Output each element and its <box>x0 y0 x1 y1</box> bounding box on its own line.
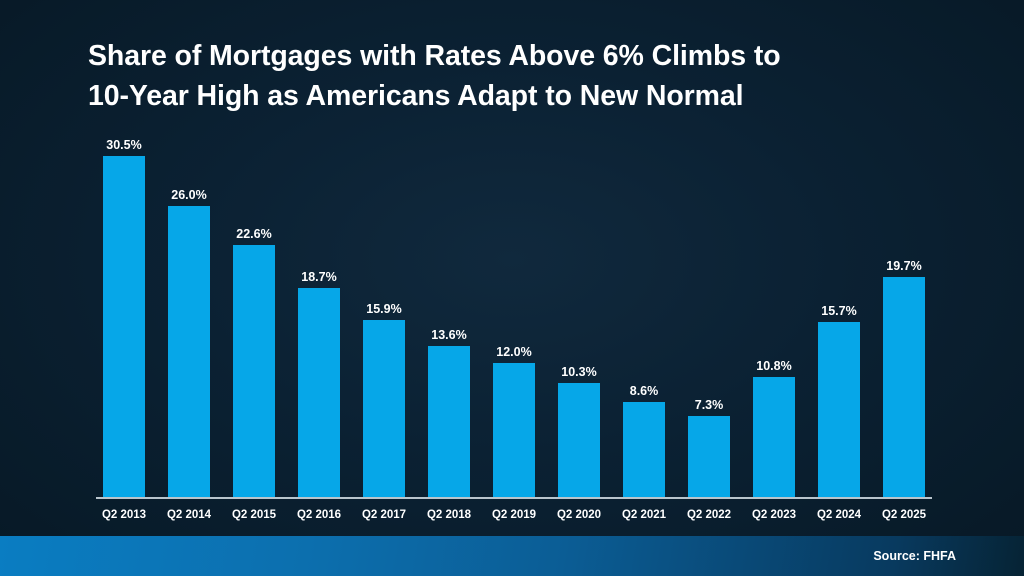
bar-group: 10.3% <box>558 128 600 498</box>
bar-group: 15.9% <box>363 128 405 498</box>
x-axis-tick-label: Q2 2022 <box>676 505 742 525</box>
bar[interactable] <box>493 363 535 498</box>
bar-value-label: 15.7% <box>805 304 873 318</box>
x-axis-tick-label: Q2 2021 <box>611 505 677 525</box>
bar-chart: 30.5%26.0%22.6%18.7%15.9%13.6%12.0%10.3%… <box>0 0 1024 576</box>
bar[interactable] <box>883 277 925 498</box>
x-axis-tick-label: Q2 2014 <box>156 505 222 525</box>
bar[interactable] <box>428 346 470 498</box>
x-axis-tick-label: Q2 2015 <box>221 505 287 525</box>
bar-group: 10.8% <box>753 128 795 498</box>
bar-value-label: 7.3% <box>675 398 743 412</box>
bar[interactable] <box>103 156 145 498</box>
bar-value-label: 22.6% <box>220 227 288 241</box>
bar-group: 8.6% <box>623 128 665 498</box>
x-axis-tick-labels: Q2 2013Q2 2014Q2 2015Q2 2016Q2 2017Q2 20… <box>103 505 925 527</box>
bar-value-label: 8.6% <box>610 384 678 398</box>
x-axis-tick-label: Q2 2018 <box>416 505 482 525</box>
bar-value-label: 19.7% <box>870 259 938 273</box>
bar-group: 19.7% <box>883 128 925 498</box>
x-axis-tick-label: Q2 2023 <box>741 505 807 525</box>
bar[interactable] <box>558 383 600 498</box>
x-axis-tick-label: Q2 2019 <box>481 505 547 525</box>
bar[interactable] <box>753 377 795 498</box>
bar[interactable] <box>168 206 210 498</box>
x-axis-tick-label: Q2 2016 <box>286 505 352 525</box>
bar-group: 12.0% <box>493 128 535 498</box>
bar-group: 7.3% <box>688 128 730 498</box>
x-axis-tick-label: Q2 2025 <box>871 505 937 525</box>
source-label: Source: FHFA <box>873 548 956 564</box>
x-axis-tick-label: Q2 2013 <box>91 505 157 525</box>
chart-plot-area: 30.5%26.0%22.6%18.7%15.9%13.6%12.0%10.3%… <box>103 128 925 498</box>
bar-value-label: 10.8% <box>740 359 808 373</box>
bar-group: 13.6% <box>428 128 470 498</box>
bar-value-label: 10.3% <box>545 365 613 379</box>
bar-value-label: 18.7% <box>285 270 353 284</box>
x-axis-line <box>96 497 932 499</box>
bar[interactable] <box>233 245 275 498</box>
bar-value-label: 15.9% <box>350 302 418 316</box>
bar-group: 26.0% <box>168 128 210 498</box>
bar-group: 15.7% <box>818 128 860 498</box>
bar[interactable] <box>818 322 860 498</box>
x-axis-tick-label: Q2 2020 <box>546 505 612 525</box>
x-axis-tick-label: Q2 2024 <box>806 505 872 525</box>
bar[interactable] <box>363 320 405 498</box>
bar-value-label: 30.5% <box>90 138 158 152</box>
bar-value-label: 13.6% <box>415 328 483 342</box>
bar-group: 30.5% <box>103 128 145 498</box>
bar[interactable] <box>623 402 665 498</box>
footer-band <box>0 536 1024 576</box>
bar-value-label: 26.0% <box>155 188 223 202</box>
bar-group: 22.6% <box>233 128 275 498</box>
bar-value-label: 12.0% <box>480 345 548 359</box>
bar-group: 18.7% <box>298 128 340 498</box>
x-axis-tick-label: Q2 2017 <box>351 505 417 525</box>
bar[interactable] <box>688 416 730 498</box>
slide-canvas: Share of Mortgages with Rates Above 6% C… <box>0 0 1024 576</box>
bar[interactable] <box>298 288 340 498</box>
